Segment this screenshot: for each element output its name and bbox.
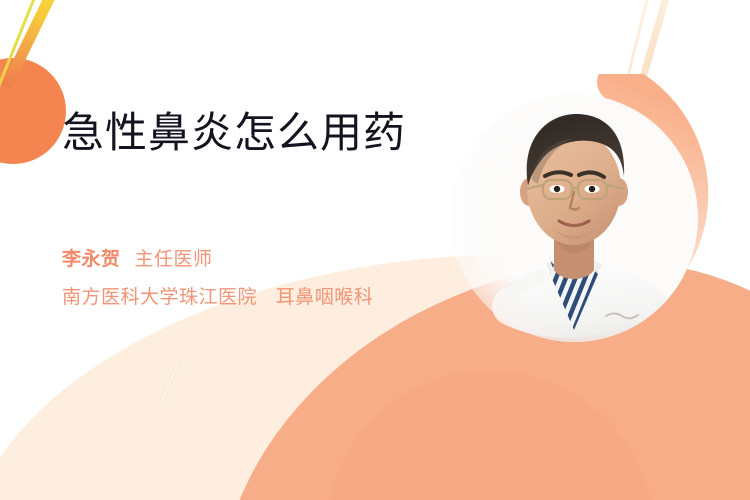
- doctor-affiliation-row: 南方医科大学珠江医院 耳鼻咽喉科: [62, 282, 492, 309]
- doctor-title: 主任医师: [135, 244, 213, 271]
- diagonal-stripe-thick-icon: [1, 0, 66, 89]
- doctor-hospital: 南方医科大学珠江医院: [62, 287, 257, 308]
- page-title: 急性鼻炎怎么用药: [62, 108, 482, 158]
- diagonal-stripe-faint-icon: [159, 359, 182, 403]
- diagonal-stripe-thin-icon: [0, 0, 43, 111]
- doctor-department: 耳鼻咽喉科: [276, 287, 374, 308]
- doctor-name: 李永贺: [62, 244, 121, 271]
- orange-circle-shape: [0, 58, 66, 164]
- doctor-byline: 李永贺 主任医师 南方医科大学珠江医院 耳鼻咽喉科: [62, 244, 492, 309]
- doctor-name-row: 李永贺 主任医师: [62, 244, 492, 271]
- doctor-portrait: [446, 88, 716, 373]
- diagonal-stripe-topright-b-icon: [623, 0, 653, 89]
- diagonal-stripe-topright-a-icon: [635, 0, 675, 95]
- salmon-blob-accent: [325, 370, 655, 500]
- title-block: 急性鼻炎怎么用药: [62, 108, 482, 158]
- video-cover-card: 急性鼻炎怎么用药 李永贺 主任医师 南方医科大学珠江医院 耳鼻咽喉科: [0, 0, 750, 500]
